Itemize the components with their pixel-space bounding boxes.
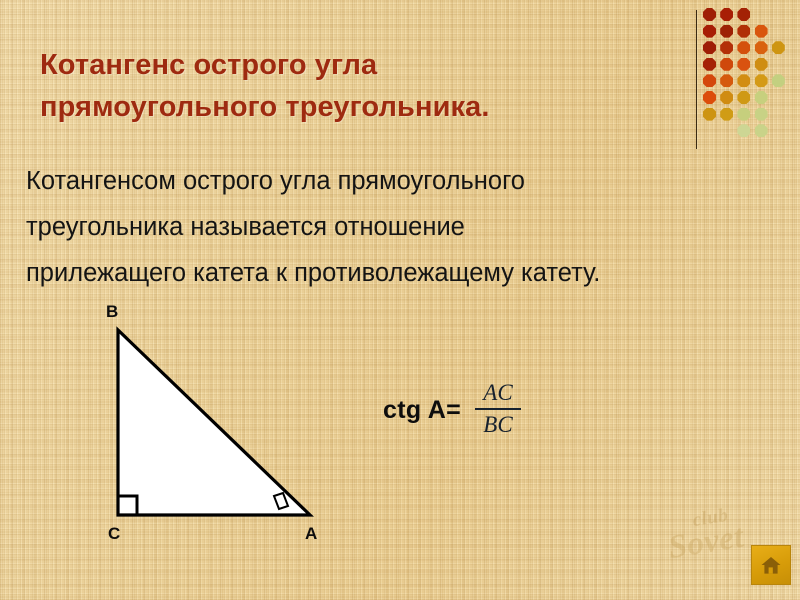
home-button[interactable] [751,545,791,585]
decoration-dot [772,74,785,87]
title-line-1: Котангенс острого угла [40,45,680,86]
decoration-dot [703,8,716,21]
decoration-dot [737,41,750,54]
decoration-dot [737,124,750,137]
decoration-dot [755,74,768,87]
decoration-dot [703,74,716,87]
body-paragraph: Котангенсом острого угла прямоугольного … [26,158,800,296]
fraction-numerator: AC [480,381,515,406]
formula-fraction: AC BC [475,381,521,437]
fraction-denominator: BC [480,412,515,437]
decoration-dot [755,58,768,71]
vertex-label-b: B [106,302,118,322]
decoration-dot [703,25,716,38]
decoration-dot [703,41,716,54]
decoration-dot [720,108,733,121]
decoration-dot [703,108,716,121]
decoration-dot [737,8,750,21]
fraction-bar [475,408,521,410]
vertical-divider [696,10,697,149]
watermark-top-text: club [691,505,730,532]
decoration-dot [703,58,716,71]
title-line-2: прямоугольного треугольника. [40,87,680,128]
decoration-dot [720,8,733,21]
home-icon [760,555,782,575]
decoration-dot [737,25,750,38]
decoration-dot [720,91,733,104]
decoration-dot [755,91,768,104]
cotangent-formula: ctg A= AC BC [383,383,521,437]
decoration-dot [737,74,750,87]
decoration-dot [755,124,768,137]
body-line-1: Котангенсом острого угла прямоугольного [26,158,800,204]
decoration-dot [720,25,733,38]
dot-grid-decoration [703,8,799,140]
decoration-dot [720,58,733,71]
decoration-dot [755,41,768,54]
decoration-dot [720,41,733,54]
decoration-dot [737,58,750,71]
decoration-dot [772,41,785,54]
formula-left-side: ctg A= [383,396,461,425]
watermark-bottom-text: Sovet [666,519,747,567]
decoration-dot [737,108,750,121]
slide-canvas: Котангенс острого угла прямоугольного тр… [0,0,800,600]
decoration-dot [720,74,733,87]
triangle-svg [80,296,380,556]
decoration-dot [703,91,716,104]
triangle-shape [118,330,310,515]
page-title: Котангенс острого угла прямоугольного тр… [40,45,680,127]
decoration-dot [755,108,768,121]
vertex-label-a: A [305,524,317,544]
body-line-2: треугольника называется отношение [26,204,800,250]
vertex-label-c: C [108,524,120,544]
right-triangle-figure: B C A [80,296,380,556]
decoration-dot [737,91,750,104]
decoration-dot [755,25,768,38]
body-line-3: прилежащего катета к противолежащему кат… [26,250,800,296]
